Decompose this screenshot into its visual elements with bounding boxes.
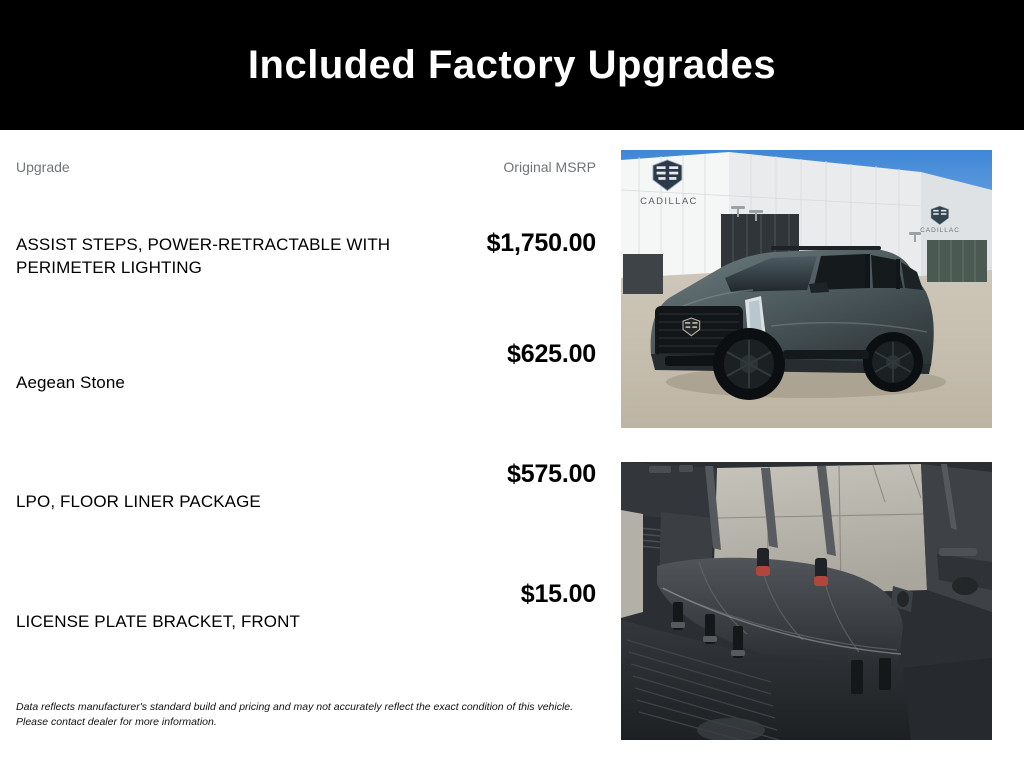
dealer-sign-text-secondary: CADILLAC: [920, 227, 960, 234]
vehicle-photo-column: CADILLAC CADILLAC: [621, 150, 992, 760]
dealer-sign-text: CADILLAC: [640, 196, 698, 207]
upgrade-name: LPO, FLOOR LINER PACKAGE: [16, 490, 406, 513]
upgrade-price: $625.00: [266, 340, 596, 368]
table-header-row: Upgrade Original MSRP: [16, 158, 596, 178]
page-title: Included Factory Upgrades: [248, 45, 776, 85]
disclaimer-text: Data reflects manufacturer's standard bu…: [16, 700, 601, 730]
interior-photo-graphic: [621, 462, 992, 740]
upgrade-price: $1,750.00: [266, 229, 596, 257]
upgrades-table: Upgrade Original MSRP ASSIST STEPS, POWE…: [0, 130, 612, 768]
vehicle-exterior-photo[interactable]: CADILLAC CADILLAC: [621, 150, 992, 428]
disclaimer-line-1: Data reflects manufacturer's standard bu…: [16, 700, 601, 715]
header-bar: Included Factory Upgrades: [0, 0, 1024, 130]
disclaimer-line-2: Please contact dealer for more informati…: [16, 715, 601, 730]
upgrade-price: $15.00: [266, 580, 596, 608]
upgrade-name: Aegean Stone: [16, 371, 406, 394]
vehicle-front-wheel: [713, 328, 785, 400]
content-area: Upgrade Original MSRP ASSIST STEPS, POWE…: [0, 130, 1024, 768]
column-header-upgrade: Upgrade: [16, 158, 70, 176]
upgrade-name: LICENSE PLATE BRACKET, FRONT: [16, 610, 406, 633]
vehicle-rear-wheel: [863, 332, 923, 392]
exterior-photo-graphic: CADILLAC CADILLAC: [621, 150, 992, 428]
column-header-original-msrp: Original MSRP: [503, 158, 596, 176]
vehicle-interior-photo[interactable]: [621, 462, 992, 740]
upgrade-price: $575.00: [266, 460, 596, 488]
